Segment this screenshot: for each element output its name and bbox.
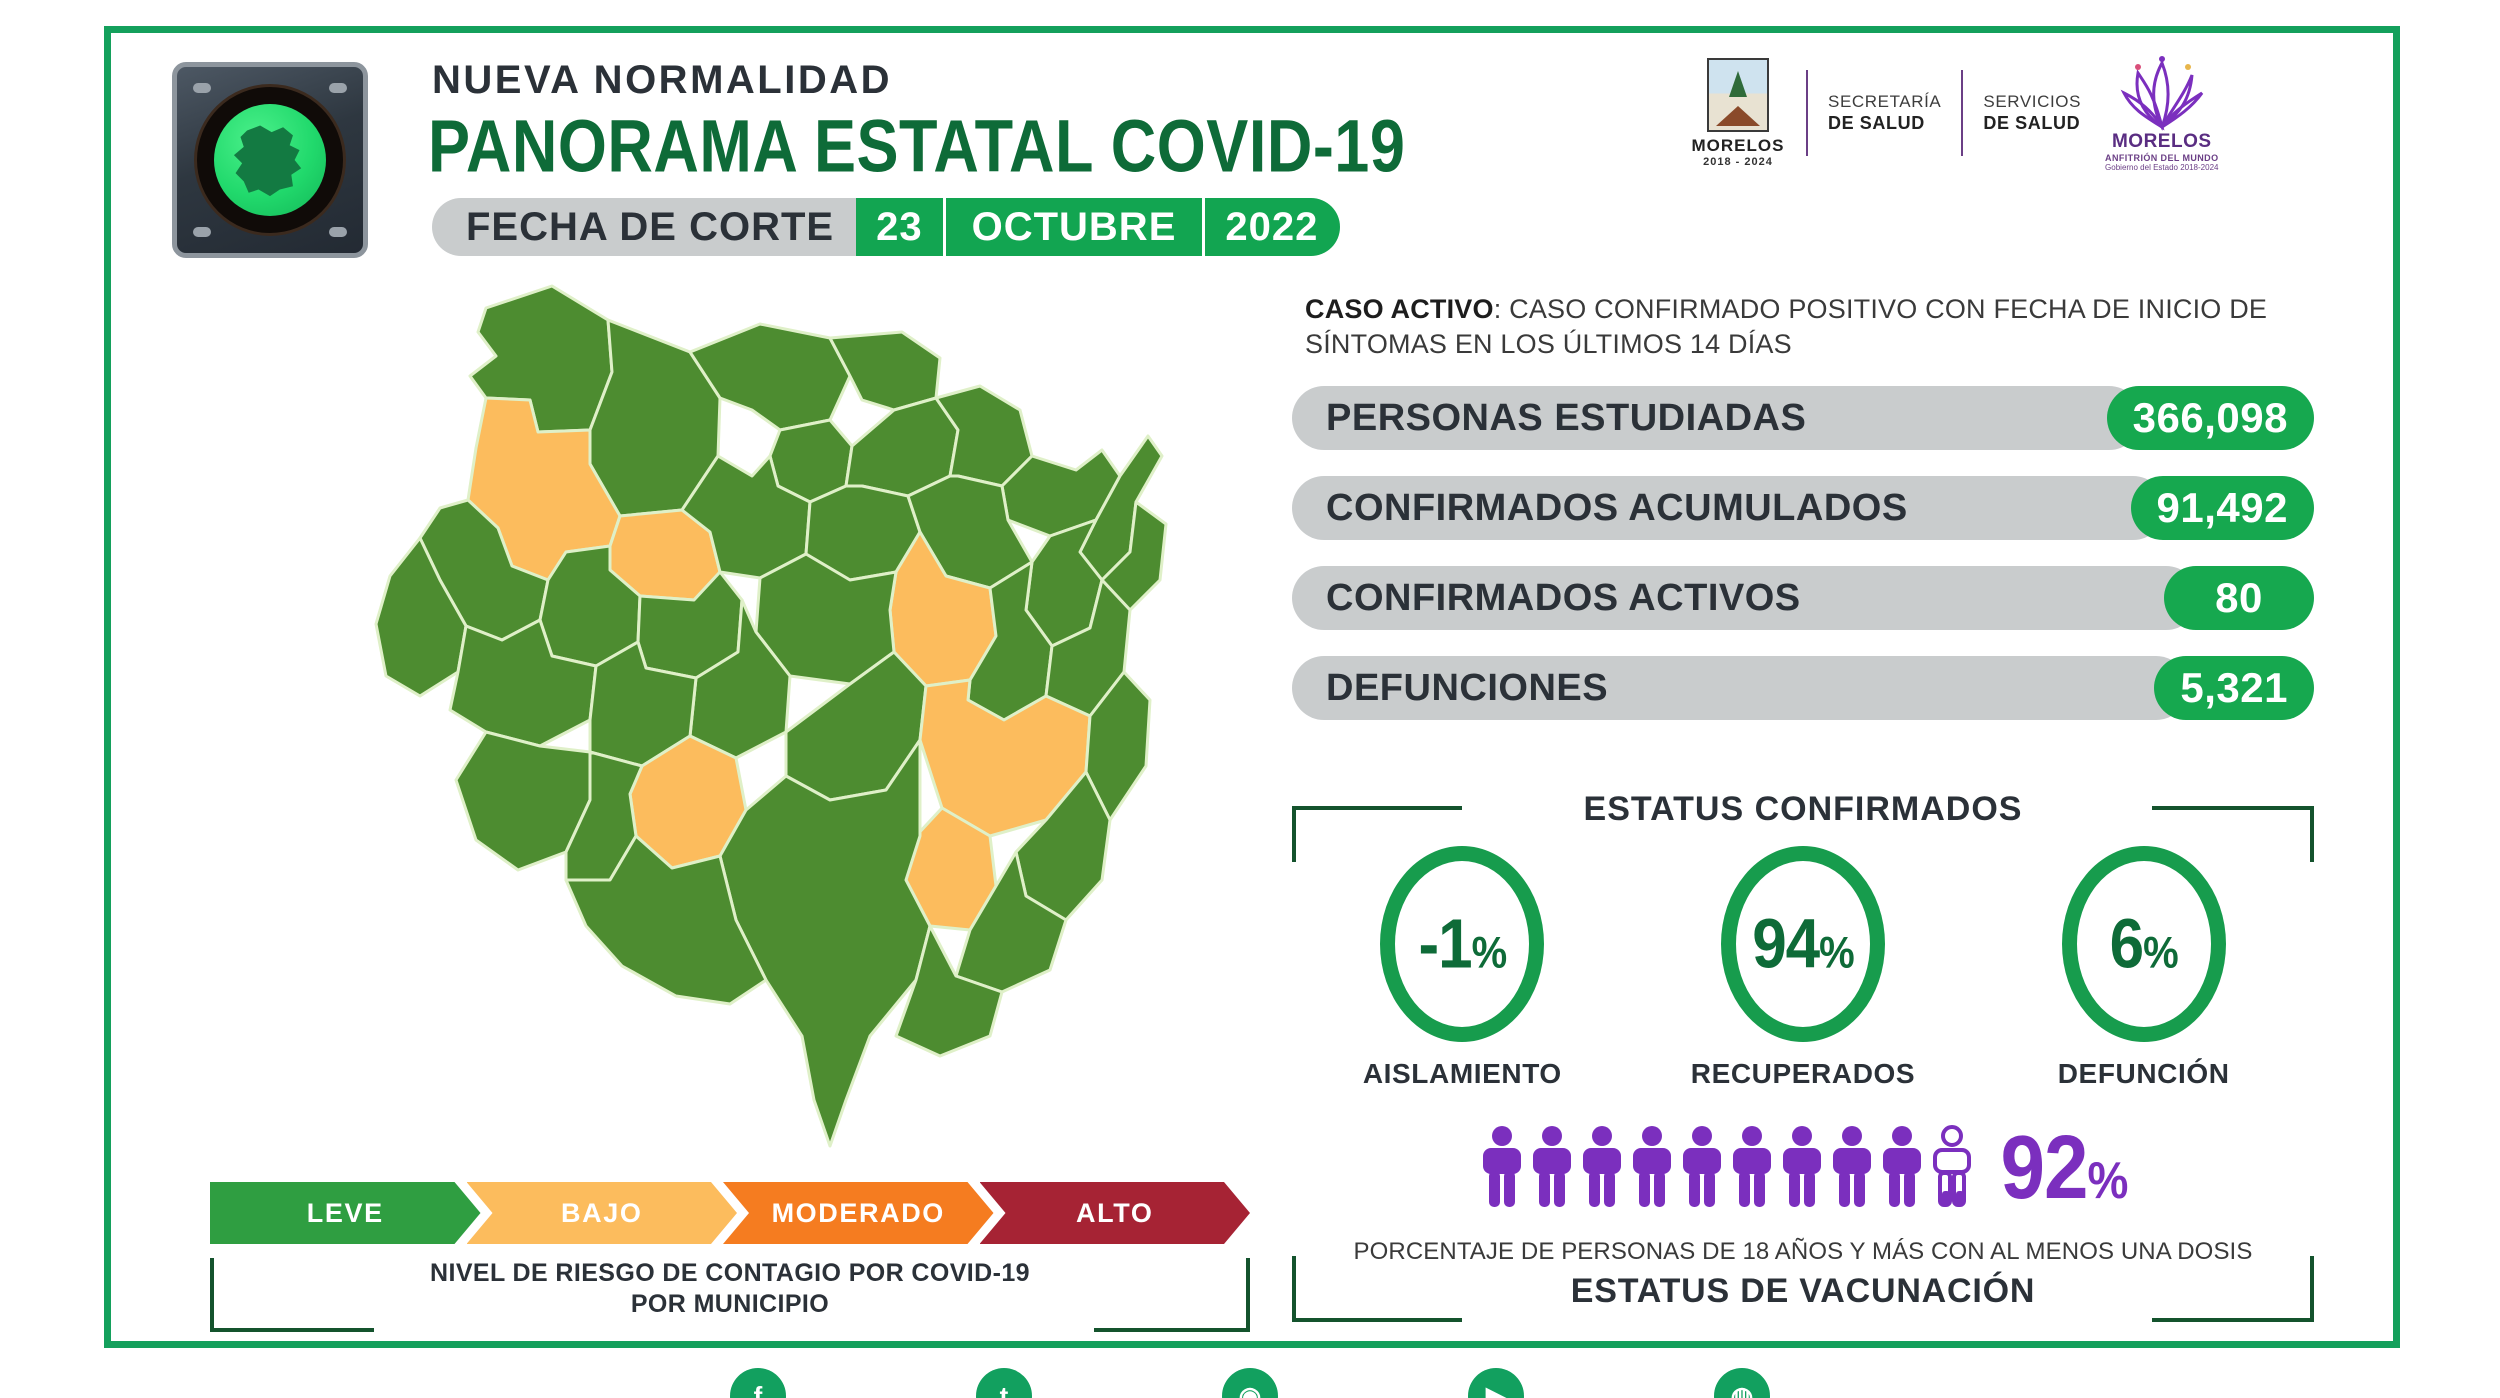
social-links-strip: f t ◉ ▶ ◍ [0,1368,2500,1398]
flower-sub1: ANFITRIÓN DEL MUNDO [2105,153,2218,163]
caso-activo-definition: CASO ACTIVO: CASO CONFIRMADO POSITIVO CO… [1305,292,2305,362]
secretaria-de-salud-logo: SECRETARÍA DE SALUD [1828,91,1941,135]
lamp-green [214,104,326,216]
cutoff-date-banner: FECHA DE CORTE 23 OCTUBRE 2022 [432,198,1340,256]
stat-label: CONFIRMADOS ACUMULADOS [1292,476,2165,540]
screw-icon [329,83,347,93]
stat-value: 80 [2164,566,2314,630]
circle-item-recuperados: 94% RECUPERADOS [1663,846,1943,1090]
legend-label: ALTO [1076,1198,1153,1229]
shield-name: MORELOS [1692,136,1785,156]
percent-ring: 6% [2062,846,2226,1042]
percent-ring: 94% [1721,846,1885,1042]
legend-caption: NIVEL DE RIESGO DE CONTAGIO POR COVID-19… [210,1258,1250,1319]
page-title: PANORAMA ESTATAL COVID-19 [428,104,1405,189]
percent-symbol: % [1472,928,1507,977]
map-svg [290,280,1210,1170]
page-kicker: NUEVA NORMALIDAD [432,58,892,103]
flower-sub2: Gobierno del Estado 2018-2024 [2105,163,2218,172]
traffic-light-green-icon [172,62,368,258]
legend-level-bajo[interactable]: BAJO [467,1182,738,1244]
stat-value: 91,492 [2131,476,2314,540]
person-filled-icon [1479,1125,1525,1211]
flower-icon [2112,55,2212,131]
stat-value: 366,098 [2107,386,2314,450]
percent-symbol: % [1819,928,1854,977]
screw-icon [329,227,347,237]
stat-row: PERSONAS ESTUDIADAS 366,098 [1292,386,2314,450]
web-icon[interactable]: ◍ [1714,1368,1770,1398]
lamp-bezel [194,84,346,236]
stat-label: CONFIRMADOS ACTIVOS [1292,566,2198,630]
legend-level-moderado[interactable]: MODERADO [723,1182,994,1244]
person-filled-icon [1879,1125,1925,1211]
person-filled-icon [1629,1125,1675,1211]
legend-level-alto[interactable]: ALTO [980,1182,1251,1244]
secretaria-line1: SECRETARÍA [1828,91,1941,112]
coat-of-arms-icon [1707,58,1769,132]
person-filled-icon [1829,1125,1875,1211]
circle-label: RECUPERADOS [1691,1058,1915,1090]
legend-label: MODERADO [772,1198,945,1229]
stat-row: DEFUNCIONES 5,321 [1292,656,2314,720]
legend-caption-line2: POR MUNICIPIO [210,1289,1250,1320]
shield-years: 2018 - 2024 [1703,156,1773,168]
instagram-icon[interactable]: ◉ [1222,1368,1278,1398]
flower-name: MORELOS [2112,131,2212,153]
person-filled-icon [1729,1125,1775,1211]
stat-label: PERSONAS ESTUDIADAS [1292,386,2141,450]
date-label: FECHA DE CORTE [432,198,856,256]
vaccination-title: ESTATUS DE VACUNACIÓN [1292,1272,2314,1311]
facebook-icon[interactable]: f [730,1368,786,1398]
vaccination-row: 92% [1292,1122,2314,1214]
secretaria-line2: DE SALUD [1828,112,1941,135]
morelos-municipalities-map[interactable] [290,280,1210,1170]
stat-row: CONFIRMADOS ACTIVOS 80 [1292,566,2314,630]
percent-value: -1 [1418,905,1471,982]
vaccination-note: PORCENTAJE DE PERSONAS DE 18 AÑOS Y MÁS … [1292,1238,2314,1266]
hill-icon [1716,106,1760,126]
person-filled-icon [1529,1125,1575,1211]
stat-value: 5,321 [2154,656,2314,720]
person-filled-icon [1679,1125,1725,1211]
servicios-line1: SERVICIOS [1983,91,2081,112]
percent-value: 6 [2110,905,2143,982]
legend-caption-line1: NIVEL DE RIESGO DE CONTAGIO POR COVID-19 [210,1258,1250,1289]
circle-label: AISLAMIENTO [1363,1058,1562,1090]
caso-activo-term: CASO ACTIVO [1305,294,1494,324]
person-filled-icon [1779,1125,1825,1211]
percent-value: 94 [1752,905,1819,982]
stat-row: CONFIRMADOS ACUMULADOS 91,492 [1292,476,2314,540]
people-pictogram [1479,1125,1975,1211]
servicios-line2: DE SALUD [1983,112,2081,135]
morelos-silhouette-icon [229,122,311,198]
screw-icon [193,227,211,237]
institutional-logos: MORELOS 2018 - 2024 SECRETARÍA DE SALUD … [1690,48,2330,178]
morelos-flower-logo: MORELOS ANFITRIÓN DEL MUNDO Gobierno del… [2105,55,2218,172]
estatus-confirmados-circles: -1% AISLAMIENTO 94% RECUPERADOS 6% DEFUN… [1292,846,2314,1090]
youtube-icon[interactable]: ▶ [1468,1368,1524,1398]
twitter-icon[interactable]: t [976,1368,1032,1398]
circle-label: DEFUNCIÓN [2058,1058,2230,1090]
legend-label: BAJO [561,1198,642,1229]
logo-divider [1806,70,1808,156]
stat-label: DEFUNCIONES [1292,656,2188,720]
logo-divider [1961,70,1963,156]
infographic-root: NUEVA NORMALIDAD PANORAMA ESTATAL COVID-… [0,0,2500,1398]
vaccination-percent-symbol: % [2088,1151,2128,1209]
circle-item-aislamiento: -1% AISLAMIENTO [1322,846,1602,1090]
morelos-coat-of-arms-logo: MORELOS 2018 - 2024 [1690,58,1786,168]
legend-label: LEVE [307,1198,384,1229]
screw-icon [193,83,211,93]
servicios-de-salud-logo: SERVICIOS DE SALUD [1983,91,2081,135]
person-filled-icon [1579,1125,1625,1211]
legend-level-leve[interactable]: LEVE [210,1182,481,1244]
date-year: 2022 [1205,198,1340,256]
percent-symbol: % [2143,928,2178,977]
date-month: OCTUBRE [946,198,1206,256]
risk-level-legend: LEVE BAJO MODERADO ALTO [210,1182,1250,1244]
circle-item-defuncion: 6% DEFUNCIÓN [2004,846,2284,1090]
percent-ring: -1% [1380,846,1544,1042]
estatus-confirmados-title: ESTATUS CONFIRMADOS [1292,790,2314,829]
vaccination-percent: 92 [2001,1118,2088,1218]
person-outline-icon [1929,1125,1975,1211]
tree-icon [1729,71,1747,97]
statistics-bars: PERSONAS ESTUDIADAS 366,098 CONFIRMADOS … [1292,386,2314,746]
date-day: 23 [856,198,946,256]
